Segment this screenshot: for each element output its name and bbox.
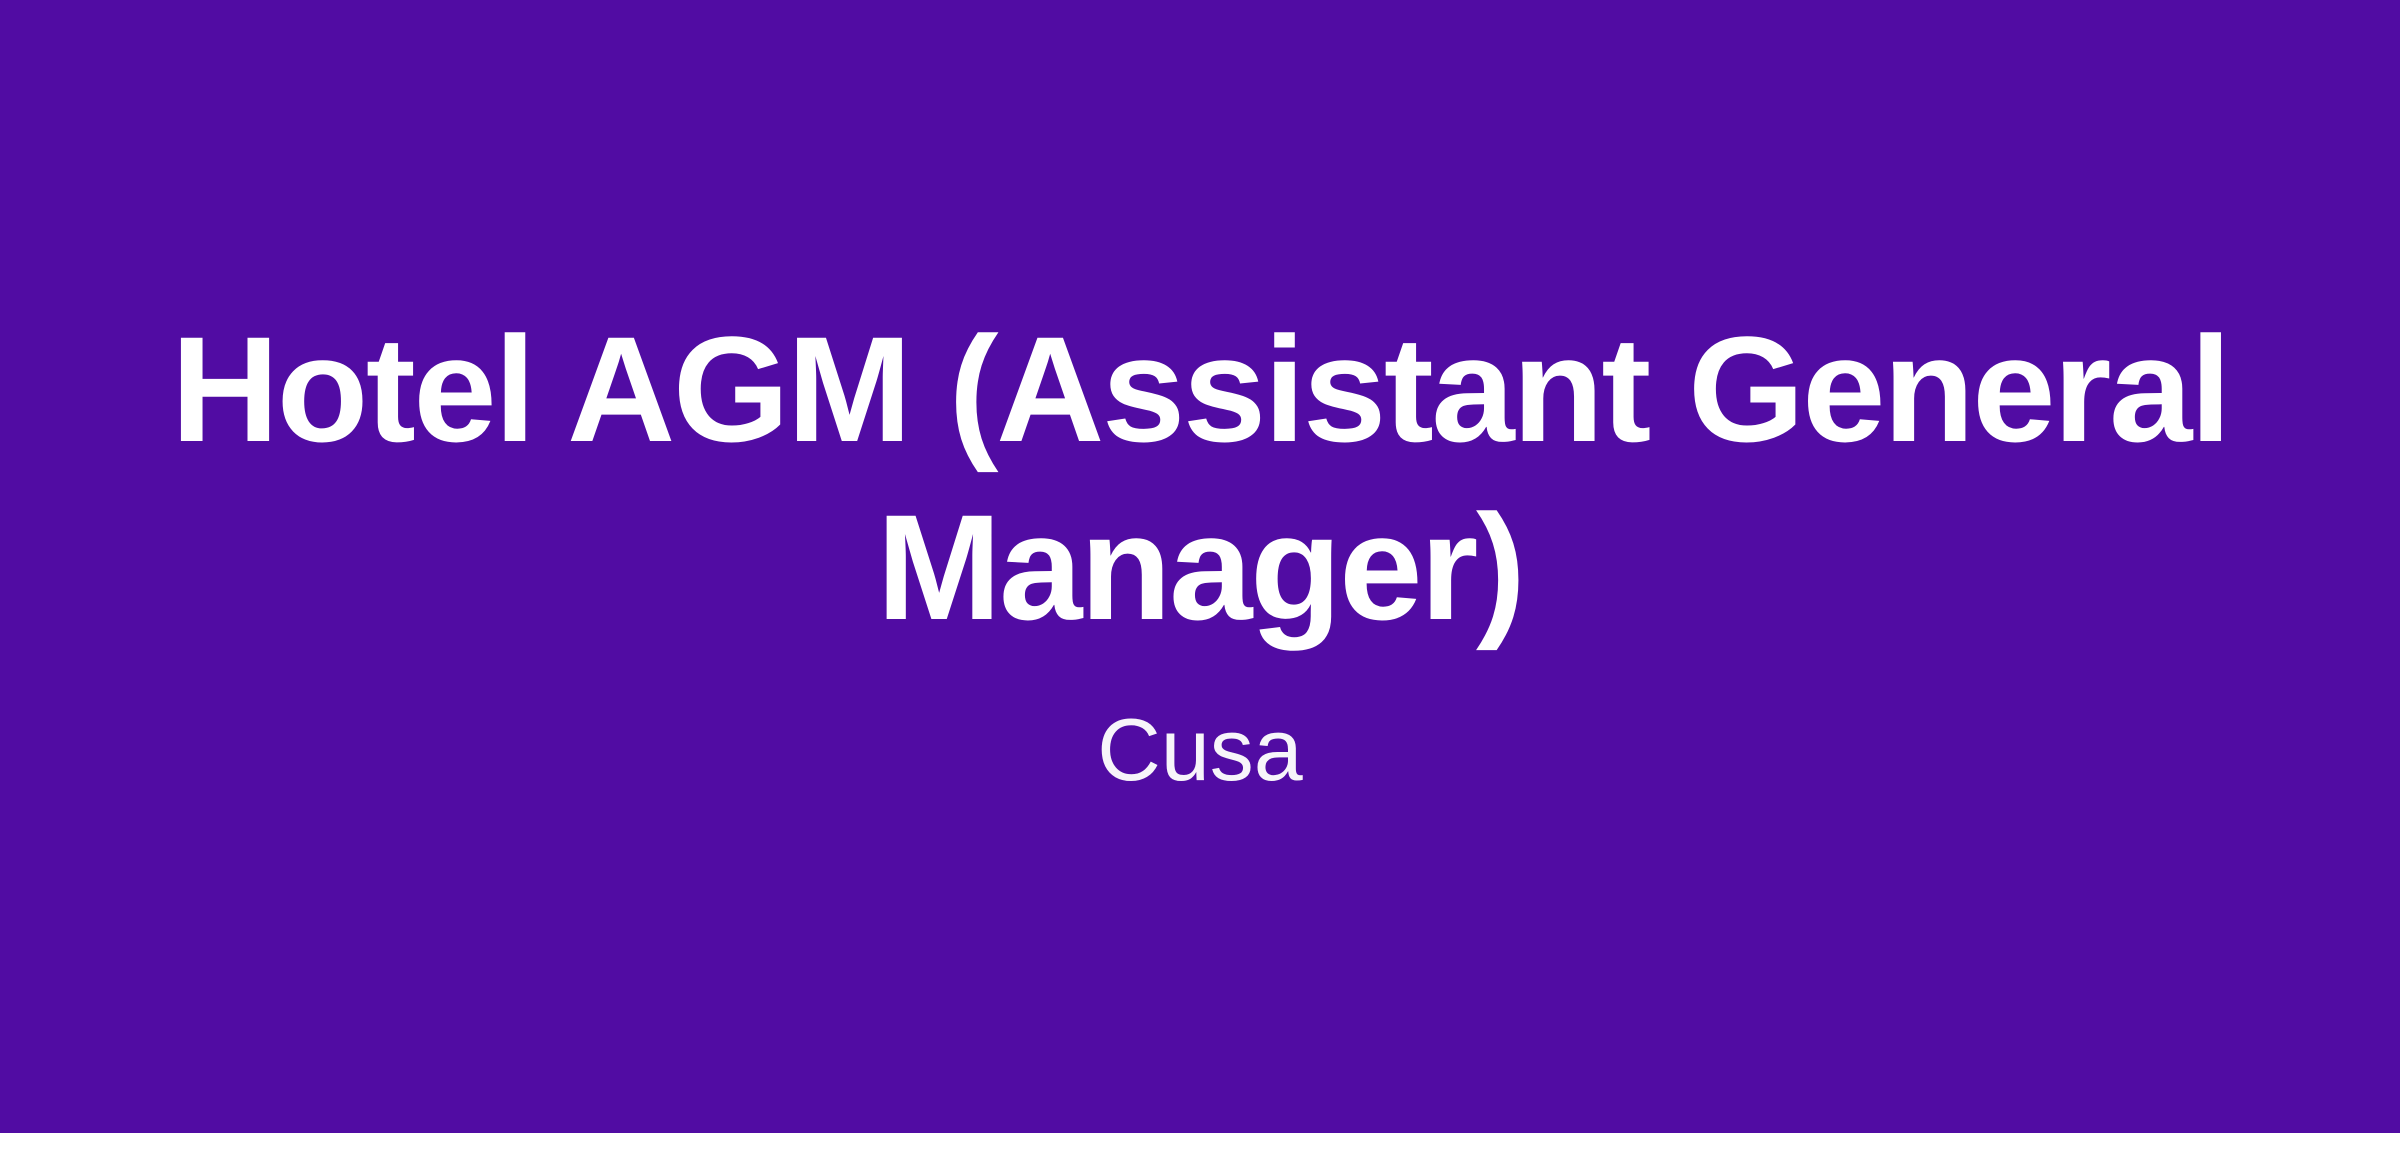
hero-card: Hotel AGM (Assistant General Manager) Cu… bbox=[0, 0, 2400, 1133]
page-subtitle: Cusa bbox=[130, 656, 2270, 802]
hero-content: Hotel AGM (Assistant General Manager) Cu… bbox=[130, 0, 2270, 802]
bottom-strip bbox=[0, 1133, 2400, 1173]
page-title: Hotel AGM (Assistant General Manager) bbox=[130, 300, 2270, 656]
